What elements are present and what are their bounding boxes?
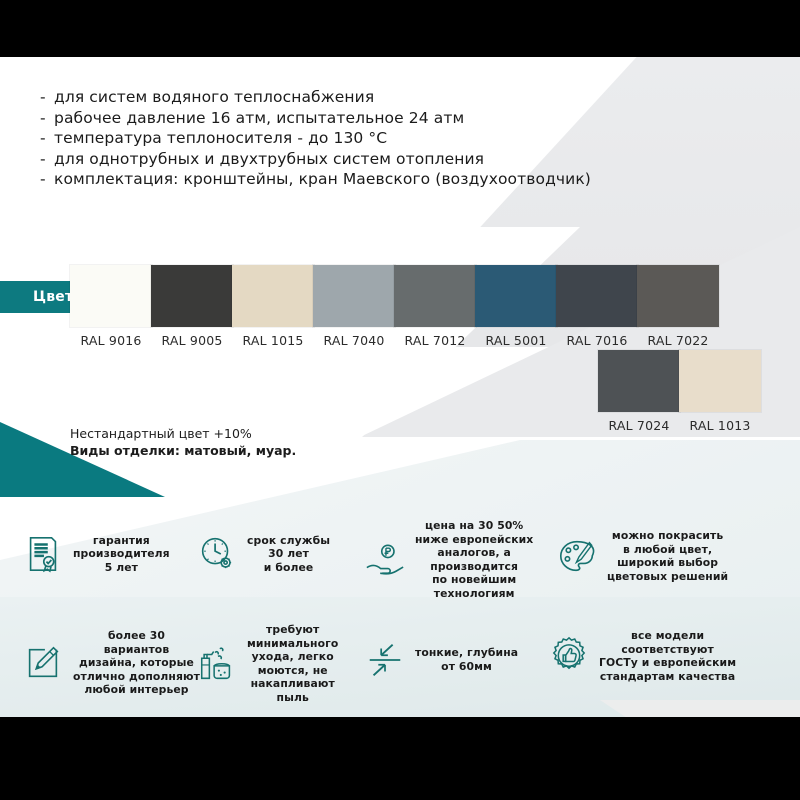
benefit-item-design-variants: более 30 вариантов дизайна, которые отли… <box>22 629 202 697</box>
swatch-cell[interactable]: RAL 1013 <box>679 350 761 433</box>
swatch-label: RAL 1013 <box>679 418 761 433</box>
spec-item: -для систем водяного теплоснабжения <box>40 87 660 108</box>
color-swatch[interactable] <box>151 265 233 327</box>
swatch-cell[interactable]: RAL 7012 <box>394 265 476 348</box>
benefit-text: тонкие, глубина от 60мм <box>415 646 518 673</box>
swatch-cell[interactable]: RAL 7016 <box>556 265 638 348</box>
depth-arrows-icon <box>364 639 406 681</box>
color-swatch[interactable] <box>637 265 719 327</box>
benefit-item-depth: тонкие, глубина от 60мм <box>364 639 524 681</box>
color-swatch[interactable] <box>475 265 557 327</box>
swatch-label: RAL 9016 <box>70 333 152 348</box>
swatch-cell[interactable]: RAL 7040 <box>313 265 395 348</box>
color-swatch[interactable] <box>679 350 761 412</box>
color-swatch[interactable] <box>598 350 680 412</box>
bullet-dash: - <box>40 108 54 129</box>
color-swatch[interactable] <box>313 265 395 327</box>
color-swatch[interactable] <box>70 265 152 327</box>
swatch-label: RAL 7012 <box>394 333 476 348</box>
spec-item-text: для систем водяного теплоснабжения <box>54 88 374 106</box>
spec-item-text: температура теплоносителя - до 130 °C <box>54 129 387 147</box>
spray-sponge-icon <box>196 643 238 685</box>
swatch-notes: Нестандартный цвет +10% Виды отделки: ма… <box>70 425 296 459</box>
swatch-label: RAL 7040 <box>313 333 395 348</box>
swatch-label: RAL 9005 <box>151 333 233 348</box>
swatch-label: RAL 7024 <box>598 418 680 433</box>
certificate-icon <box>22 533 64 575</box>
benefit-item-warranty: гарантия производителя 5 лет <box>22 533 197 575</box>
benefit-item-service-life: срок службы 30 лет и более <box>196 533 356 575</box>
benefit-item-paintable: можно покрасить в любой цвет, широкий вы… <box>556 529 736 583</box>
spec-list: -для систем водяного теплоснабжения -раб… <box>40 87 660 190</box>
color-swatch[interactable] <box>556 265 638 327</box>
benefit-text: все модели соответствуют ГОСТу и европей… <box>599 629 736 683</box>
swatch-label: RAL 7016 <box>556 333 638 348</box>
spec-item-text: рабочее давление 16 атм, испытательное 2… <box>54 109 464 127</box>
hand-ruble-icon <box>364 539 406 581</box>
thumbs-up-badge-icon <box>548 635 590 677</box>
spec-item: -комплектация: кронштейны, кран Маевског… <box>40 169 660 190</box>
benefit-text: более 30 вариантов дизайна, которые отли… <box>73 629 200 697</box>
benefit-text: можно покрасить в любой цвет, широкий вы… <box>607 529 728 583</box>
benefit-item-standards: все модели соответствуют ГОСТу и европей… <box>548 629 748 683</box>
grey-triangle-bottom-right <box>600 700 800 717</box>
swatch-label: RAL 1015 <box>232 333 314 348</box>
swatch-label: RAL 5001 <box>475 333 557 348</box>
slide-page: -для систем водяного теплоснабжения -раб… <box>0 0 800 800</box>
pencil-design-icon <box>22 642 64 684</box>
palette-brush-icon <box>556 535 598 577</box>
benefit-text: гарантия производителя 5 лет <box>73 534 170 575</box>
spec-item: -рабочее давление 16 атм, испытательное … <box>40 108 660 129</box>
swatch-note-line: Нестандартный цвет +10% <box>70 425 296 442</box>
swatch-cell[interactable]: RAL 7024 <box>598 350 680 433</box>
benefit-text: требуют минимального ухода, легко моются… <box>247 623 338 705</box>
bullet-dash: - <box>40 128 54 149</box>
swatch-cell[interactable]: RAL 7022 <box>637 265 719 348</box>
color-swatch[interactable] <box>232 265 314 327</box>
benefit-text: срок службы 30 лет и более <box>247 534 330 575</box>
spec-item-text: для однотрубных и двухтрубных систем ото… <box>54 150 484 168</box>
slide-canvas: -для систем водяного теплоснабжения -раб… <box>0 57 800 717</box>
swatch-cell[interactable]: RAL 5001 <box>475 265 557 348</box>
swatch-cell[interactable]: RAL 9005 <box>151 265 233 348</box>
color-swatch[interactable] <box>394 265 476 327</box>
benefit-item-price: цена на 30 50% ниже европейских аналогов… <box>364 519 554 601</box>
benefit-text: цена на 30 50% ниже европейских аналогов… <box>415 519 533 601</box>
spec-item: -для однотрубных и двухтрубных систем от… <box>40 149 660 170</box>
swatch-note-line: Виды отделки: матовый, муар. <box>70 442 296 459</box>
bullet-dash: - <box>40 169 54 190</box>
bullet-dash: - <box>40 149 54 170</box>
spec-item: -температура теплоносителя - до 130 °C <box>40 128 660 149</box>
spec-item-text: комплектация: кронштейны, кран Маевского… <box>54 170 591 188</box>
swatch-cell[interactable]: RAL 9016 <box>70 265 152 348</box>
benefit-item-easy-care: требуют минимального ухода, легко моются… <box>196 623 361 705</box>
swatch-label: RAL 7022 <box>637 333 719 348</box>
swatch-cell[interactable]: RAL 1015 <box>232 265 314 348</box>
bullet-dash: - <box>40 87 54 108</box>
clock-gear-icon <box>196 533 238 575</box>
